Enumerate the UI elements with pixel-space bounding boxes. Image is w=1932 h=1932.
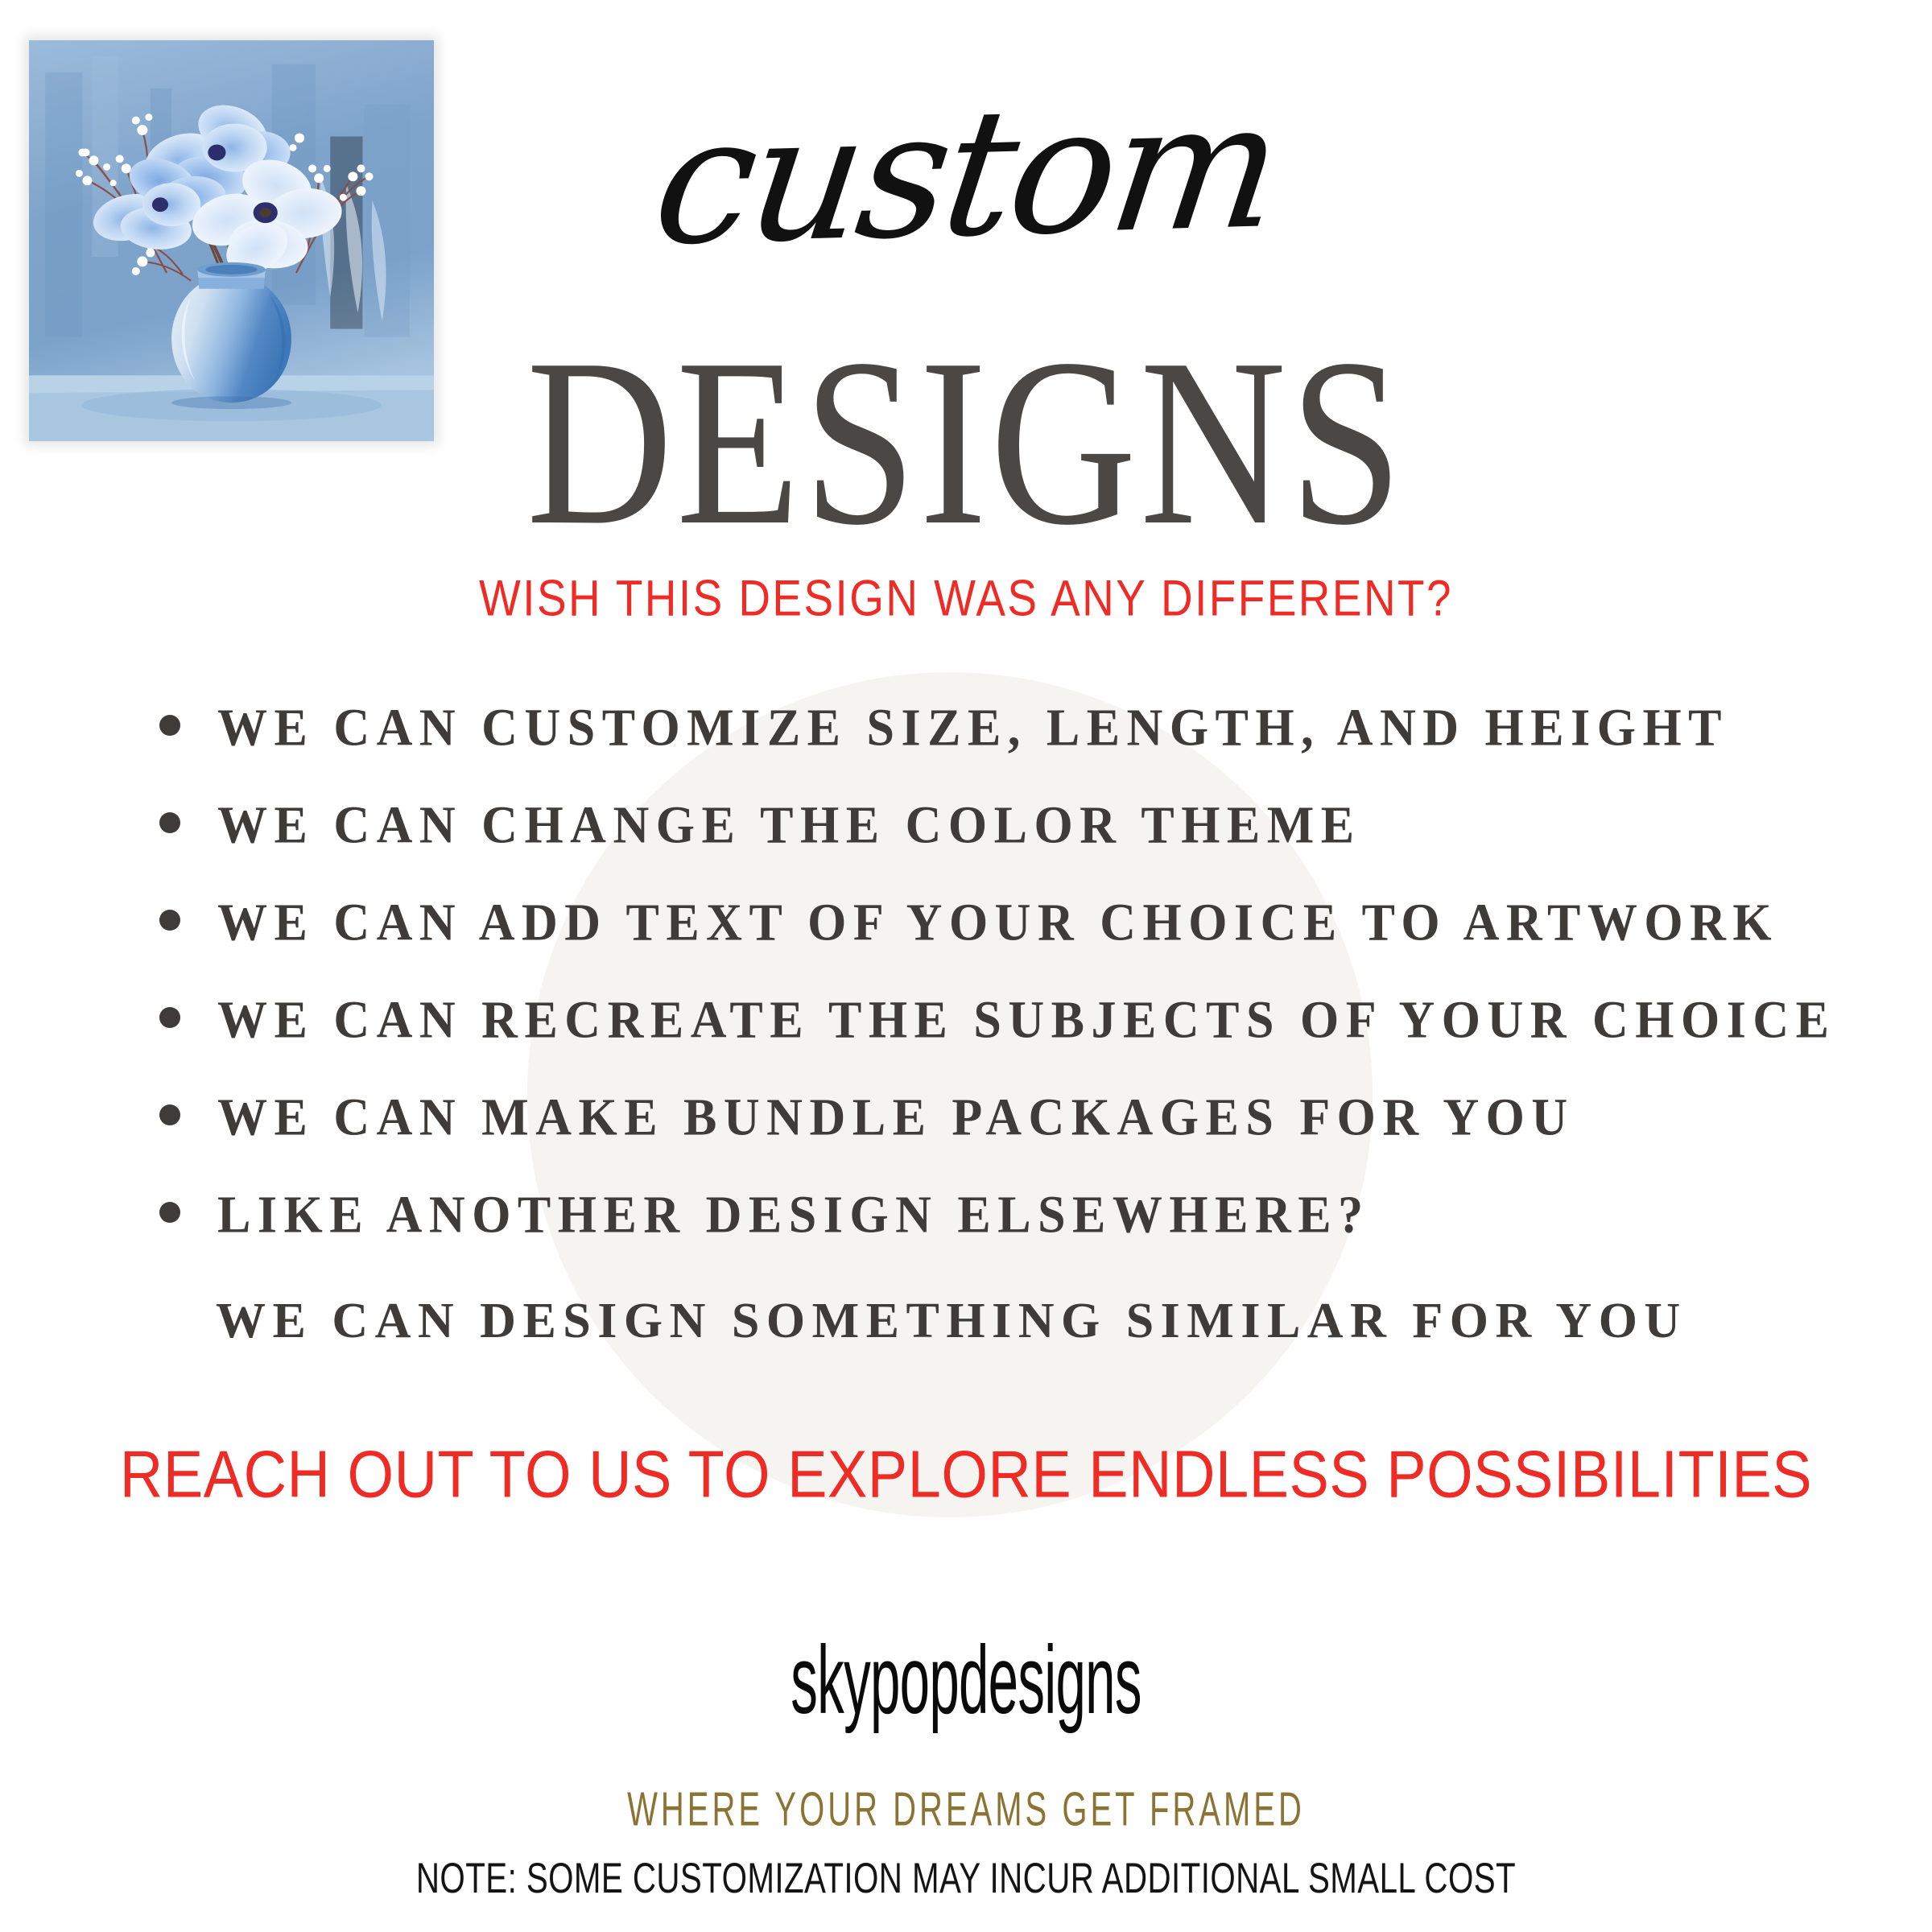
brand-name: skypopdesigns <box>290 1633 1642 1729</box>
list-item: WE CAN ADD TEXT OF YOUR CHOICE TO ARTWOR… <box>0 899 1932 997</box>
feature-label: WE CAN ADD TEXT OF YOUR CHOICE TO ARTWOR… <box>217 896 1778 949</box>
brand-tagline: WHERE YOUR DREAMS GET FRAMED <box>193 1785 1739 1833</box>
bullet-icon <box>159 910 180 931</box>
feature-label: WE CAN RECREATE THE SUBJECTS OF YOUR CHO… <box>217 993 1836 1046</box>
features-list: WE CAN CUSTOMIZE SIZE, LENGTH, AND HEIGH… <box>0 704 1932 1289</box>
call-to-action[interactable]: REACH OUT TO US TO EXPLORE ENDLESS POSSI… <box>0 1441 1932 1508</box>
feature-label: WE CAN MAKE BUNDLE PACKAGES FOR YOU <box>217 1091 1575 1144</box>
bullet-icon <box>159 1007 180 1028</box>
flowers-in-vase-illustration <box>29 40 434 441</box>
bullet-icon <box>159 812 180 833</box>
bullet-icon <box>159 1202 180 1223</box>
bullet-icon <box>159 1104 180 1125</box>
list-item: LIKE ANOTHER DESIGN ELSEWHERE? <box>0 1191 1932 1289</box>
list-item: WE CAN CHANGE THE COLOR THEME <box>0 802 1932 899</box>
footer-note: NOTE: SOME CUSTOMIZATION MAY INCUR ADDIT… <box>155 1858 1777 1901</box>
bullet-icon <box>159 715 180 736</box>
feature-label: WE CAN CUSTOMIZE SIZE, LENGTH, AND HEIGH… <box>217 701 1728 754</box>
feature-label: LIKE ANOTHER DESIGN ELSEWHERE? <box>217 1188 1370 1241</box>
feature-continuation-label: WE CAN DESIGN SOMETHING SIMILAR FOR YOU <box>0 1296 1932 1346</box>
list-item: WE CAN CUSTOMIZE SIZE, LENGTH, AND HEIGH… <box>0 704 1932 802</box>
artwork-thumbnail[interactable] <box>29 40 434 441</box>
list-item: WE CAN RECREATE THE SUBJECTS OF YOUR CHO… <box>0 997 1932 1094</box>
subtitle-question: WISH THIS DESIGN WAS ANY DIFFERENT? <box>19 573 1913 624</box>
feature-label: WE CAN CHANGE THE COLOR THEME <box>217 799 1361 852</box>
list-item: WE CAN MAKE BUNDLE PACKAGES FOR YOU <box>0 1094 1932 1191</box>
